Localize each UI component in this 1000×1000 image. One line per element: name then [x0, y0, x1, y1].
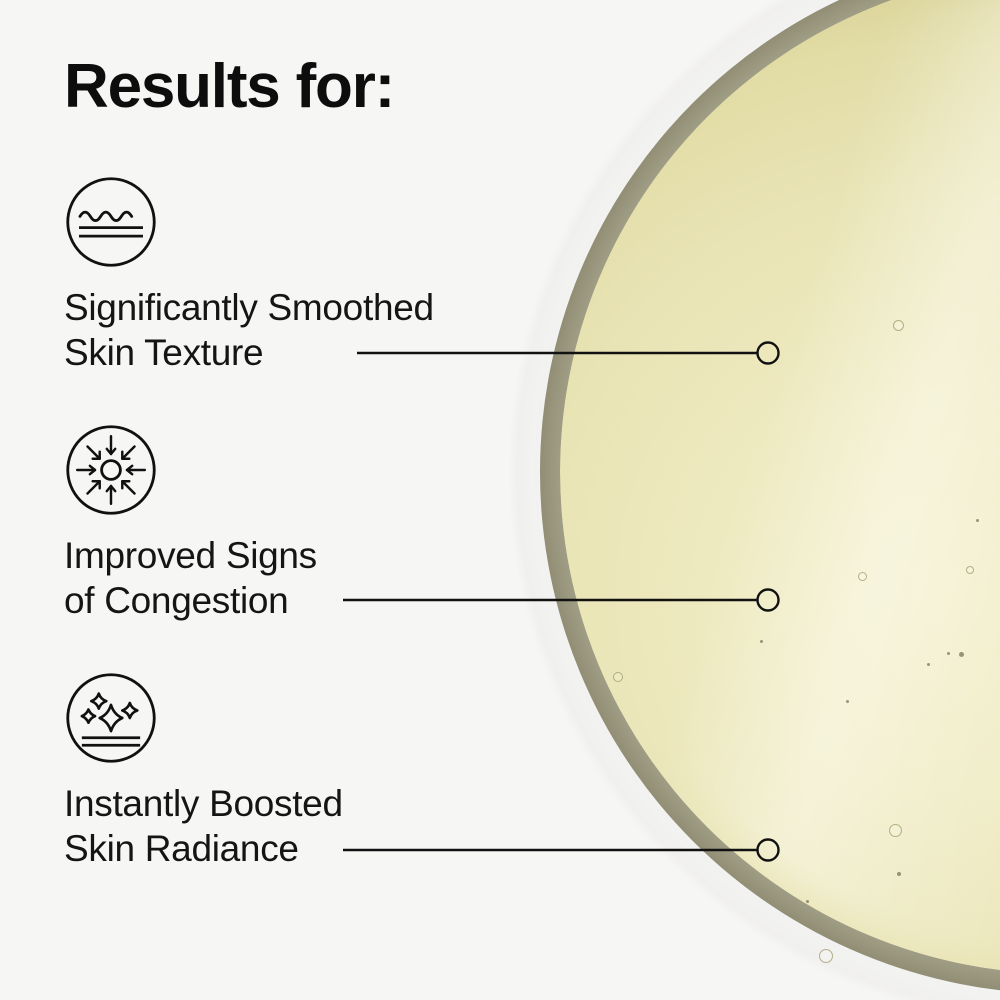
leader-endpoint-1 — [758, 343, 779, 364]
leader-endpoint-3 — [758, 840, 779, 861]
callout-leader-lines — [0, 0, 1000, 1000]
leader-endpoint-2 — [758, 590, 779, 611]
promo-graphic: Results for: Significantly Smoothed Skin… — [0, 0, 1000, 1000]
